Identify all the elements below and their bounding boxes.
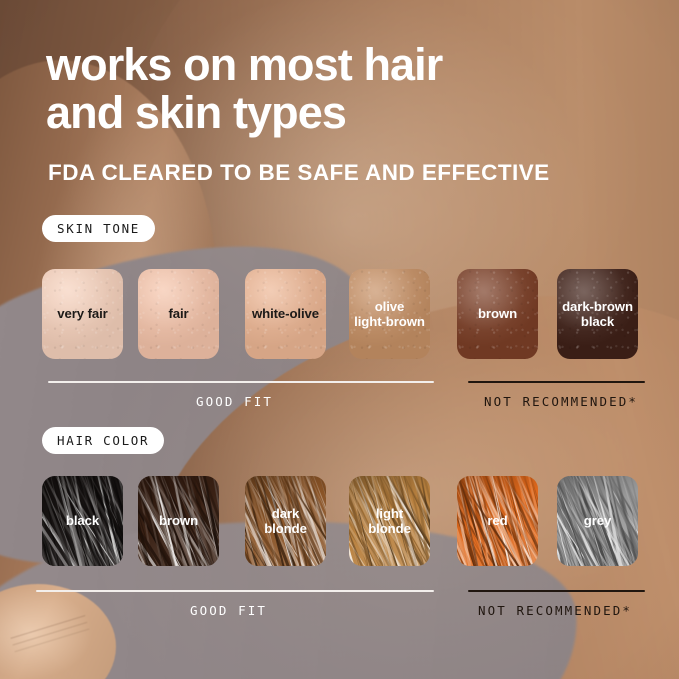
- skin-good-fit-rule: [48, 381, 434, 383]
- hair-good-fit-rule: [36, 590, 434, 592]
- skin-tone-swatch-label: olivelight-brown: [351, 299, 428, 329]
- skin-tone-swatch[interactable]: olivelight-brown: [349, 269, 430, 359]
- skin-tone-swatch-label: white-olive: [249, 306, 322, 321]
- hair-color-swatch-row: blackbrowndarkblondelightblonderedgrey: [0, 476, 679, 566]
- hair-color-swatch-label: red: [484, 513, 510, 528]
- skin-tone-swatch[interactable]: white-olive: [245, 269, 326, 359]
- infographic-canvas: works on most hair and skin types FDA CL…: [0, 0, 679, 679]
- hair-color-swatch[interactable]: red: [457, 476, 538, 566]
- hair-color-swatch-label: lightblonde: [365, 506, 414, 536]
- skin-tone-swatch[interactable]: dark-brownblack: [557, 269, 638, 359]
- hair-color-swatch-label: brown: [156, 513, 201, 528]
- badge-skin-tone: SKIN TONE: [42, 215, 155, 242]
- hair-color-swatch[interactable]: black: [42, 476, 123, 566]
- skin-tone-swatch-label: dark-brownblack: [559, 299, 636, 329]
- headline-line-2: and skin types: [46, 89, 606, 137]
- skin-not-recommended-label: NOT RECOMMENDED*: [484, 394, 638, 409]
- page-title: works on most hair and skin types: [46, 41, 606, 136]
- hair-color-swatch-label: grey: [581, 513, 614, 528]
- skin-tone-swatch-row: very fairfairwhite-oliveolivelight-brown…: [0, 269, 679, 359]
- content-layer: works on most hair and skin types FDA CL…: [0, 0, 679, 679]
- hair-not-recommended-rule: [468, 590, 645, 592]
- skin-tone-swatch[interactable]: very fair: [42, 269, 123, 359]
- hair-good-fit-label: GOOD FIT: [190, 603, 267, 618]
- skin-good-fit-label: GOOD FIT: [196, 394, 273, 409]
- hair-color-swatch[interactable]: grey: [557, 476, 638, 566]
- skin-tone-swatch[interactable]: brown: [457, 269, 538, 359]
- hair-color-swatch[interactable]: darkblonde: [245, 476, 326, 566]
- badge-hair-color: HAIR COLOR: [42, 427, 164, 454]
- headline-line-1: works on most hair: [46, 39, 442, 90]
- skin-not-recommended-rule: [468, 381, 645, 383]
- hair-color-swatch[interactable]: brown: [138, 476, 219, 566]
- hair-color-swatch-label: black: [63, 513, 102, 528]
- subheadline: FDA CLEARED TO BE SAFE AND EFFECTIVE: [48, 160, 550, 186]
- skin-tone-swatch-label: fair: [165, 306, 191, 321]
- skin-tone-swatch-label: very fair: [54, 306, 110, 321]
- hair-color-swatch-label: darkblonde: [261, 506, 310, 536]
- skin-tone-swatch[interactable]: fair: [138, 269, 219, 359]
- hair-not-recommended-label: NOT RECOMMENDED*: [478, 603, 632, 618]
- hair-color-swatch[interactable]: lightblonde: [349, 476, 430, 566]
- skin-tone-swatch-label: brown: [475, 306, 520, 321]
